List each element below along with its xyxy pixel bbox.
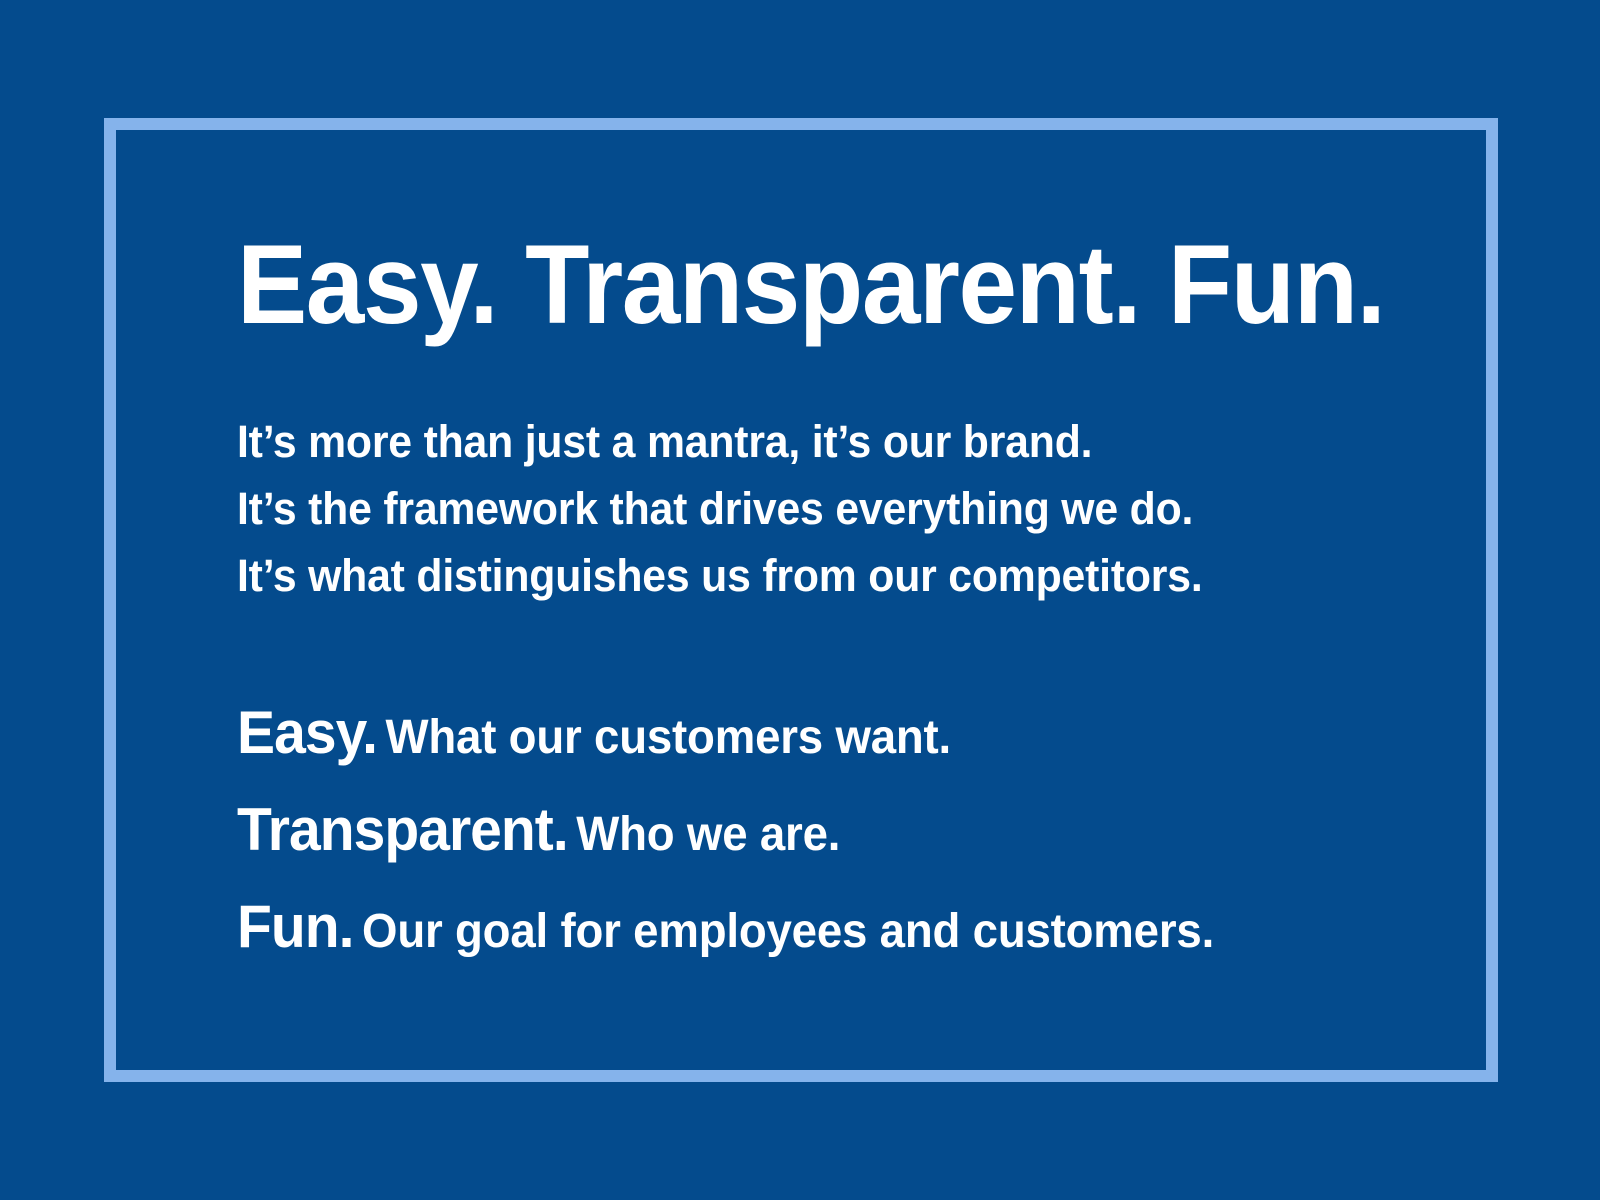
definition-term-fun: Fun.: [237, 893, 353, 960]
definition-item-fun: Fun.Our goal for employees and customers…: [237, 886, 1214, 983]
intro-line-1: It’s more than just a mantra, it’s our b…: [237, 408, 1203, 475]
definition-item-easy: Easy.What our customers want.: [237, 692, 1214, 789]
definition-list: Easy.What our customers want. Transparen…: [237, 692, 1214, 983]
intro-line-3: It’s what distinguishes us from our comp…: [237, 542, 1203, 609]
definition-term-transparent: Transparent.: [237, 796, 568, 863]
definition-item-transparent: Transparent.Who we are.: [237, 789, 1214, 886]
definition-description-fun: Our goal for employees and customers.: [362, 905, 1214, 958]
definition-description-easy: What our customers want.: [386, 711, 952, 764]
intro-line-2: It’s the framework that drives everythin…: [237, 475, 1203, 542]
page-title: Easy. Transparent. Fun.: [237, 229, 1384, 341]
definition-term-easy: Easy.: [237, 699, 377, 766]
slide-canvas: Easy. Transparent. Fun. It’s more than j…: [0, 0, 1600, 1200]
intro-paragraph: It’s more than just a mantra, it’s our b…: [237, 408, 1203, 609]
slide-content: Easy. Transparent. Fun. It’s more than j…: [237, 118, 1417, 1082]
definition-description-transparent: Who we are.: [576, 808, 840, 861]
